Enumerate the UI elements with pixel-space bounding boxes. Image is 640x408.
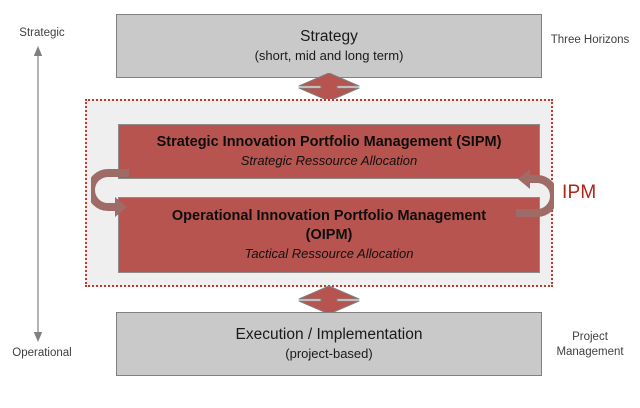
strategy-box[interactable]: Strategy (short, mid and long term) xyxy=(116,14,542,78)
label-project-management: Project Management xyxy=(540,330,640,360)
strategic-operational-axis-arrow-icon xyxy=(30,46,46,342)
execution-box[interactable]: Execution / Implementation (project-base… xyxy=(116,312,542,376)
label-project-management-line1: Project xyxy=(540,330,640,345)
sipm-oipm-left-curved-arrow-icon xyxy=(91,167,131,221)
sipm-oipm-right-curved-arrow-icon xyxy=(514,167,554,221)
oipm-box-title-line2: (OIPM) xyxy=(306,226,353,245)
sipm-box-subtitle: Strategic Ressource Allocation xyxy=(241,152,418,170)
ipm-label: IPM xyxy=(562,182,596,204)
execution-box-subtitle: (project-based) xyxy=(285,345,372,363)
label-three-horizons: Three Horizons xyxy=(540,33,640,47)
label-project-management-line2: Management xyxy=(540,345,640,360)
axis-label-operational: Operational xyxy=(2,347,82,359)
strategy-box-subtitle: (short, mid and long term) xyxy=(255,47,404,65)
oipm-box-title-line1: Operational Innovation Portfolio Managem… xyxy=(172,207,486,226)
ipm-execution-double-arrow-icon xyxy=(297,286,361,314)
strategy-box-title: Strategy xyxy=(300,27,358,47)
oipm-box-subtitle: Tactical Ressource Allocation xyxy=(245,245,414,263)
sipm-box[interactable]: Strategic Innovation Portfolio Managemen… xyxy=(118,124,540,179)
strategy-ipm-double-arrow-icon xyxy=(297,73,361,101)
oipm-box[interactable]: Operational Innovation Portfolio Managem… xyxy=(118,197,540,273)
axis-label-strategic: Strategic xyxy=(6,27,78,39)
execution-box-title: Execution / Implementation xyxy=(236,325,423,345)
sipm-box-title: Strategic Innovation Portfolio Managemen… xyxy=(157,133,502,152)
diagram-canvas: Strategic Operational Strategy (short, m… xyxy=(0,0,640,408)
